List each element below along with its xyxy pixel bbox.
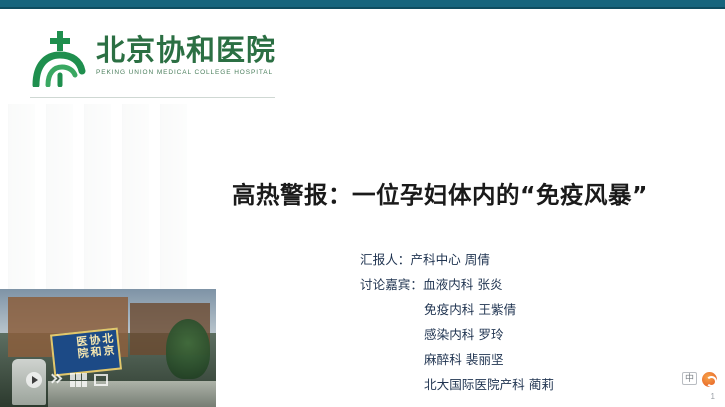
slide-credits: 汇报人：产科中心 周倩 讨论嘉宾：血液内科 张炎 免疫内科 王紫倩 感染内科 罗… xyxy=(360,247,710,397)
photo-tree xyxy=(166,319,210,379)
discussant-row-5: 北大国际医院产科 蔺莉 xyxy=(360,372,710,397)
logo-emblem xyxy=(30,31,88,87)
hospital-logo: 北京协和医院 PEKING UNION MEDICAL COLLEGE HOSP… xyxy=(30,31,270,89)
discussant-5: 北大国际医院产科 蔺莉 xyxy=(424,377,554,392)
discussant-row-3: 感染内科 罗玲 xyxy=(360,322,710,347)
discussants-label: 讨论嘉宾： xyxy=(360,277,423,292)
logo-text-block: 北京协和医院 PEKING UNION MEDICAL COLLEGE HOSP… xyxy=(96,33,276,76)
slide-title: 高热警报：一位孕妇体内的“免疫风暴” xyxy=(232,176,722,210)
hospital-photo: 北京协和医院 xyxy=(0,289,216,407)
photo-hospital-sign: 北京协和医院 xyxy=(50,328,122,377)
logo-swirl-icon xyxy=(32,47,86,87)
sogou-input-icon[interactable] xyxy=(702,372,717,387)
presentation-window: 北京协和医院 PEKING UNION MEDICAL COLLEGE HOSP… xyxy=(0,0,725,407)
fullscreen-icon[interactable] xyxy=(94,374,108,386)
discussant-1: 血液内科 张炎 xyxy=(423,277,503,292)
slideshow-controls[interactable] xyxy=(26,371,112,389)
fast-forward-icon[interactable] xyxy=(49,373,63,387)
logo-name-en: PEKING UNION MEDICAL COLLEGE HOSPITAL xyxy=(96,69,276,76)
discussant-row-2: 免疫内科 王紫倩 xyxy=(360,297,710,322)
presenter-name: 产科中心 周倩 xyxy=(410,252,490,267)
discussant-4: 麻醉科 裴丽坚 xyxy=(424,352,504,367)
discussants-row: 讨论嘉宾：血液内科 张炎 xyxy=(360,272,710,297)
slide-canvas[interactable]: 北京协和医院 PEKING UNION MEDICAL COLLEGE HOSP… xyxy=(0,9,725,407)
play-icon[interactable] xyxy=(26,372,42,388)
grid-view-icon[interactable] xyxy=(70,373,87,387)
window-top-accent-bar xyxy=(0,0,725,7)
presenter-label: 汇报人： xyxy=(360,252,410,267)
logo-divider xyxy=(30,97,275,98)
discussant-row-4: 麻醉科 裴丽坚 xyxy=(360,347,710,372)
discussant-2: 免疫内科 王紫倩 xyxy=(424,302,516,317)
decorative-column-watermark xyxy=(0,104,215,289)
discussant-3: 感染内科 罗玲 xyxy=(424,327,504,342)
ime-mode-indicator[interactable]: 中 xyxy=(682,372,697,385)
slide-page-number: 1 xyxy=(711,392,715,401)
logo-name-cn: 北京协和医院 xyxy=(96,33,276,67)
presenter-row: 汇报人：产科中心 周倩 xyxy=(360,247,710,272)
